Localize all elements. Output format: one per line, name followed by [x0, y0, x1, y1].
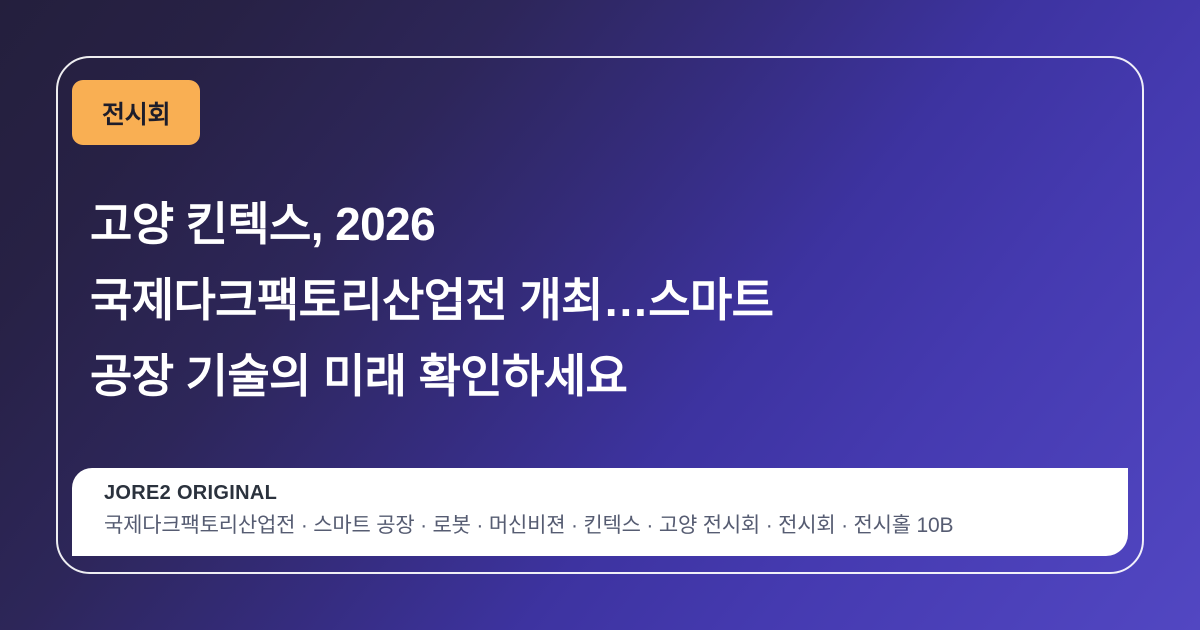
brand-label: JORE2 ORIGINAL	[104, 479, 1128, 507]
tag-list: 국제다크팩토리산업전 · 스마트 공장 · 로봇 · 머신비젼 · 킨텍스 · …	[104, 510, 1128, 542]
footer-panel: JORE2 ORIGINAL 국제다크팩토리산업전 · 스마트 공장 · 로봇 …	[72, 468, 1128, 556]
category-badge-label: 전시회	[102, 95, 170, 131]
og-image-canvas: 전시회 고양 킨텍스, 2026 국제다크팩토리산업전 개최…스마트 공장 기술…	[0, 0, 1200, 630]
category-badge[interactable]: 전시회	[72, 80, 200, 145]
footer-content: JORE2 ORIGINAL 국제다크팩토리산업전 · 스마트 공장 · 로봇 …	[104, 479, 1128, 542]
page-title: 고양 킨텍스, 2026 국제다크팩토리산업전 개최…스마트 공장 기술의 미래…	[90, 186, 1020, 414]
